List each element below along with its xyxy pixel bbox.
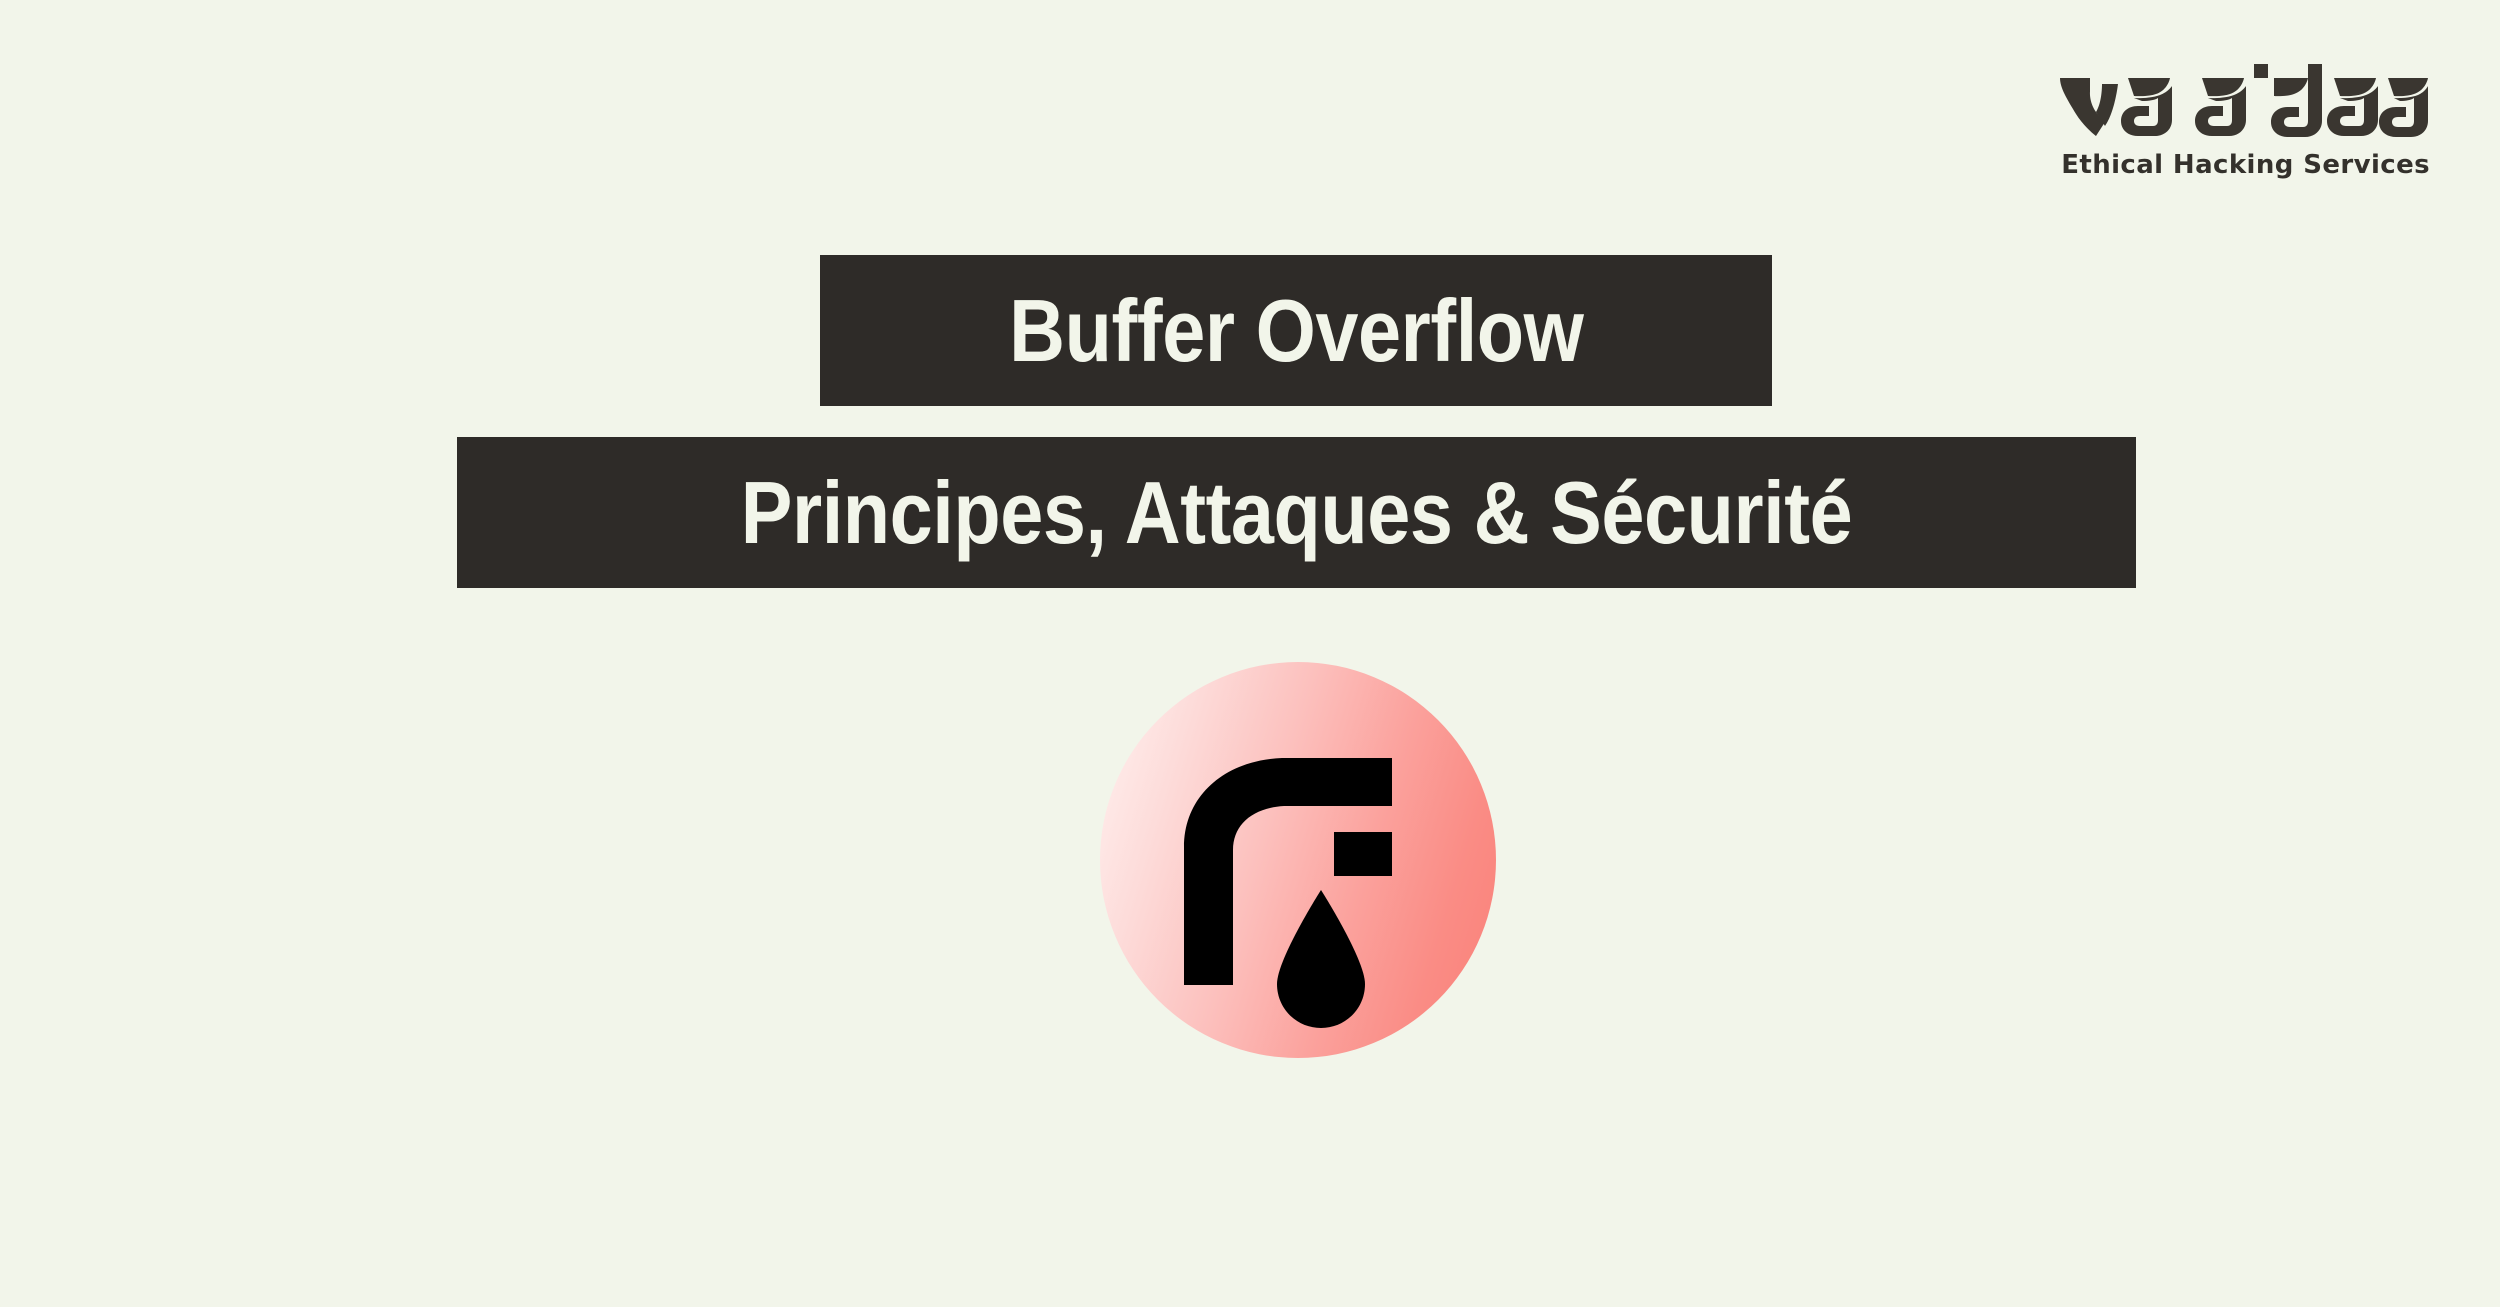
icon-medallion (1100, 662, 1496, 1058)
vaadata-wordmark-icon (2058, 62, 2430, 138)
page-subtitle: Principes, Attaques & Sécurité (741, 469, 1852, 557)
title-bar-primary: Buffer Overflow (820, 255, 1772, 406)
brand-tagline: Ethical Hacking Services (2061, 150, 2430, 180)
brand-logo: Ethical Hacking Services (2050, 62, 2430, 180)
page-title: Buffer Overflow (1009, 287, 1583, 375)
slide-canvas: Ethical Hacking Services Buffer Overflow… (0, 0, 2500, 1307)
title-bar-secondary: Principes, Attaques & Sécurité (457, 437, 2136, 588)
faucet-drip-icon (1100, 662, 1496, 1058)
